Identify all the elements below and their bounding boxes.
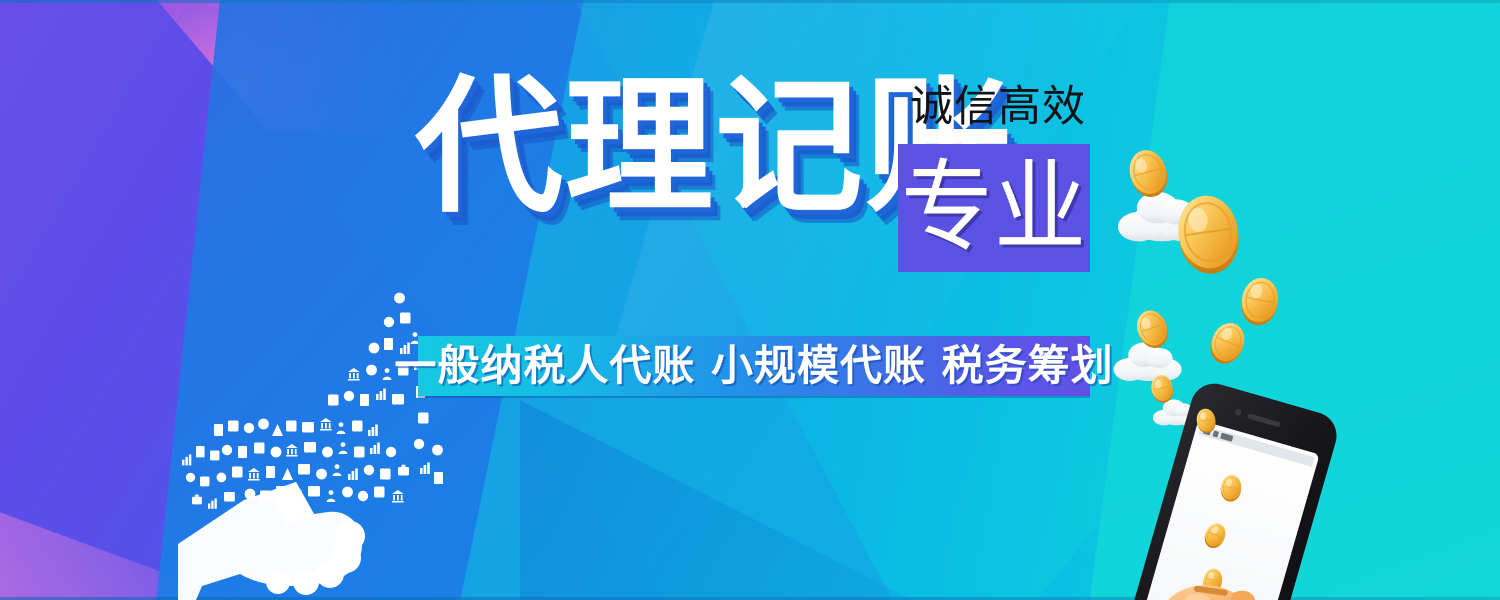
badge-block: 诚信高效 专业 (898, 80, 1098, 272)
promo-banner: 代理记账 诚信高效 专业 一般纳税人代账 小规模代账 税务筹划 (0, 0, 1500, 600)
megaphone-icon-cluster (178, 286, 478, 600)
badge-tagline: 诚信高效 (898, 80, 1098, 134)
subtitle-bar: 一般纳税人代账 小规模代账 税务筹划 (418, 336, 1090, 396)
subtitle-text: 一般纳税人代账 小规模代账 税务筹划 (394, 343, 1113, 389)
banner-top-edge-line (0, 0, 1500, 3)
badge-highlight-text: 专业 (901, 156, 1087, 260)
badge-highlight-box: 专业 (898, 144, 1090, 272)
finance-illustration-group (1090, 120, 1420, 600)
